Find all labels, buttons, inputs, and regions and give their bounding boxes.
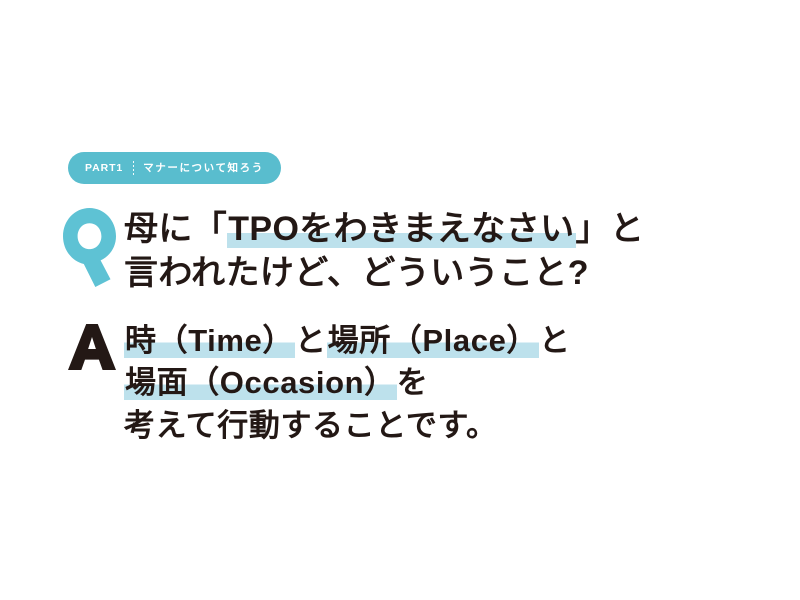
page-canvas: PART1 マナーについて知ろう 母に「TPOをわきまえなさい」と 言われたけど… [0,0,800,600]
answer-line-2: 場面（Occasion）を [124,362,571,404]
dotted-divider-icon [133,161,134,176]
answer-line-2-highlight-occasion: 場面（Occasion） [124,365,397,400]
question-line-1-post: 」と [576,210,645,248]
question-line-2-text: 言われたけど、どういうこと? [124,254,589,292]
question-marker [62,206,124,288]
question-block: 母に「TPOをわきまえなさい」と 言われたけど、どういうこと? [62,206,644,295]
letter-a-icon [68,324,116,370]
answer-line-2-particle: を [397,365,429,400]
answer-line-1-particle-2: と [539,323,571,358]
answer-line-3: 考えて行動することです。 [124,405,571,447]
letter-q-icon [62,208,118,288]
answer-block: 時（Time）と場所（Place）と 場面（Occasion）を 考えて行動する… [62,318,571,447]
question-line-1: 母に「TPOをわきまえなさい」と [124,208,644,252]
part-badge: PART1 マナーについて知ろう [68,152,281,184]
answer-line-1-particle-1: と [295,323,327,358]
answer-text: 時（Time）と場所（Place）と 場面（Occasion）を 考えて行動する… [124,318,571,447]
question-line-1-pre: 母に「 [124,210,227,248]
answer-line-3-text: 考えて行動することです。 [124,408,498,443]
question-text: 母に「TPOをわきまえなさい」と 言われたけど、どういうこと? [124,206,644,295]
part-badge-subtitle: マナーについて知ろう [143,163,264,174]
question-line-2: 言われたけど、どういうこと? [124,252,644,296]
answer-marker [62,318,124,370]
part-badge-label: PART1 [85,163,123,174]
answer-line-1-highlight-place: 場所（Place） [327,323,539,358]
answer-line-1-highlight-time: 時（Time） [124,323,295,358]
answer-line-1: 時（Time）と場所（Place）と [124,320,571,362]
question-line-1-highlight: TPOをわきまえなさい [227,210,575,248]
